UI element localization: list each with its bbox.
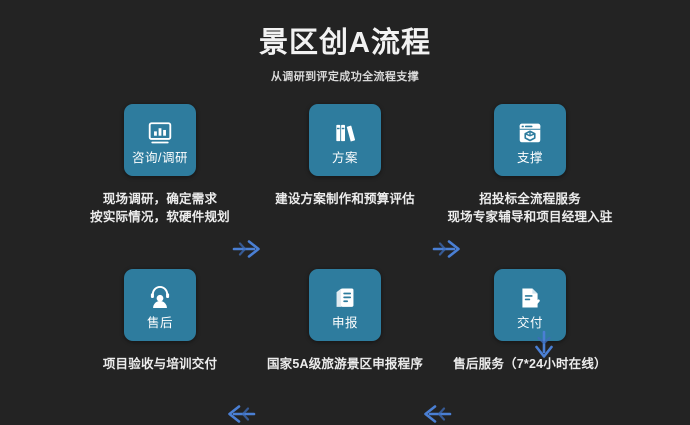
slide-canvas: 景区创A流程 从调研到评定成功全流程支撑 咨询/调研 现场调研，确	[0, 0, 690, 412]
flow-step-support[interactable]: 支撑 招投标全流程服务 现场专家辅导和项目经理入驻	[415, 104, 645, 226]
step-caption-line-2: 按实际情况，软硬件规划	[45, 208, 275, 226]
step-card[interactable]: 申报	[309, 269, 381, 341]
arrow-right-icon	[432, 238, 466, 260]
step-card[interactable]: 支撑	[494, 104, 566, 176]
step-label: 支撑	[517, 152, 543, 165]
window-cube-icon	[517, 120, 543, 146]
step-label: 咨询/调研	[132, 152, 188, 165]
flow-diagram: 咨询/调研 现场调研，确定需求 按实际情况，软硬件规划	[0, 104, 690, 404]
headset-support-icon	[147, 285, 173, 311]
arrow-right-icon	[232, 238, 266, 260]
bar-chart-icon	[147, 120, 173, 146]
page-title: 景区创A流程	[0, 26, 690, 61]
step-card[interactable]: 售后	[124, 269, 196, 341]
arrow-down-icon	[533, 330, 555, 364]
page-subtitle: 从调研到评定成功全流程支撑	[0, 68, 690, 84]
step-caption-line-1: 招投标全流程服务	[415, 190, 645, 208]
flow-step-after-sales[interactable]: 售后 项目验收与培训交付	[45, 269, 275, 373]
header: 景区创A流程 从调研到评定成功全流程支撑	[0, 26, 690, 84]
step-caption: 项目验收与培训交付	[45, 355, 275, 373]
document-form-icon	[332, 285, 358, 311]
step-label: 申报	[332, 317, 358, 330]
step-caption-line-1: 项目验收与培训交付	[45, 355, 275, 373]
step-card[interactable]: 交付	[494, 269, 566, 341]
step-label: 方案	[332, 152, 358, 165]
books-icon	[332, 120, 358, 146]
step-caption-line-2: 现场专家辅导和项目经理入驻	[415, 208, 645, 226]
step-label: 售后	[147, 317, 173, 330]
step-caption: 招投标全流程服务 现场专家辅导和项目经理入驻	[415, 190, 645, 226]
document-check-icon	[517, 285, 543, 311]
step-card[interactable]: 咨询/调研	[124, 104, 196, 176]
step-label: 交付	[517, 317, 543, 330]
arrow-left-icon	[418, 403, 452, 425]
step-card[interactable]: 方案	[309, 104, 381, 176]
arrow-left-icon	[222, 403, 256, 425]
